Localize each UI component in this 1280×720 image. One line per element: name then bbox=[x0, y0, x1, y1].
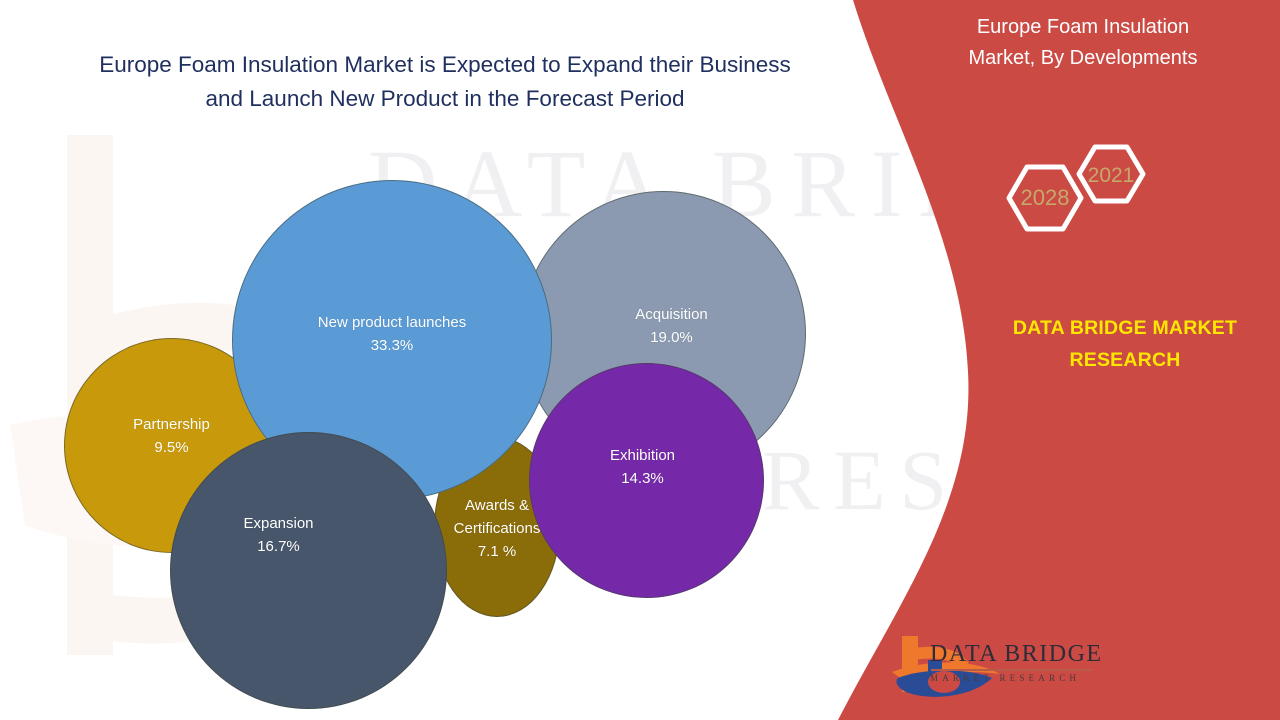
hex-2028-label: 2028 bbox=[1021, 185, 1070, 210]
brand-line2: RESEARCH bbox=[975, 344, 1275, 376]
hex-2028: 2028 bbox=[1009, 167, 1081, 229]
hex-2021-label: 2021 bbox=[1088, 164, 1135, 187]
slide-canvas: DATA BRIDGE RESEARCH Europe Foam Insulat… bbox=[0, 0, 1280, 720]
hexagon-group: 2028 2021 bbox=[985, 143, 1185, 273]
panel-title: Europe Foam Insulation Market, By Develo… bbox=[908, 12, 1258, 74]
panel-title-line1: Europe Foam Insulation bbox=[908, 12, 1258, 43]
logo-divider bbox=[931, 669, 1093, 671]
panel-title-line2: Market, By Developments bbox=[908, 43, 1258, 74]
hex-2021: 2021 bbox=[1079, 147, 1143, 201]
logo-sub-text: MARKET RESEARCH bbox=[930, 673, 1103, 683]
brand-line1: DATA BRIDGE MARKET bbox=[975, 312, 1275, 344]
panel-content: Europe Foam Insulation Market, By Develo… bbox=[0, 0, 1280, 720]
logo-main-text: DATA BRIDGE bbox=[930, 641, 1103, 668]
brand-name: DATA BRIDGE MARKET RESEARCH bbox=[975, 312, 1275, 376]
logo-wordmark: DATA BRIDGE MARKET RESEARCH bbox=[930, 641, 1103, 683]
